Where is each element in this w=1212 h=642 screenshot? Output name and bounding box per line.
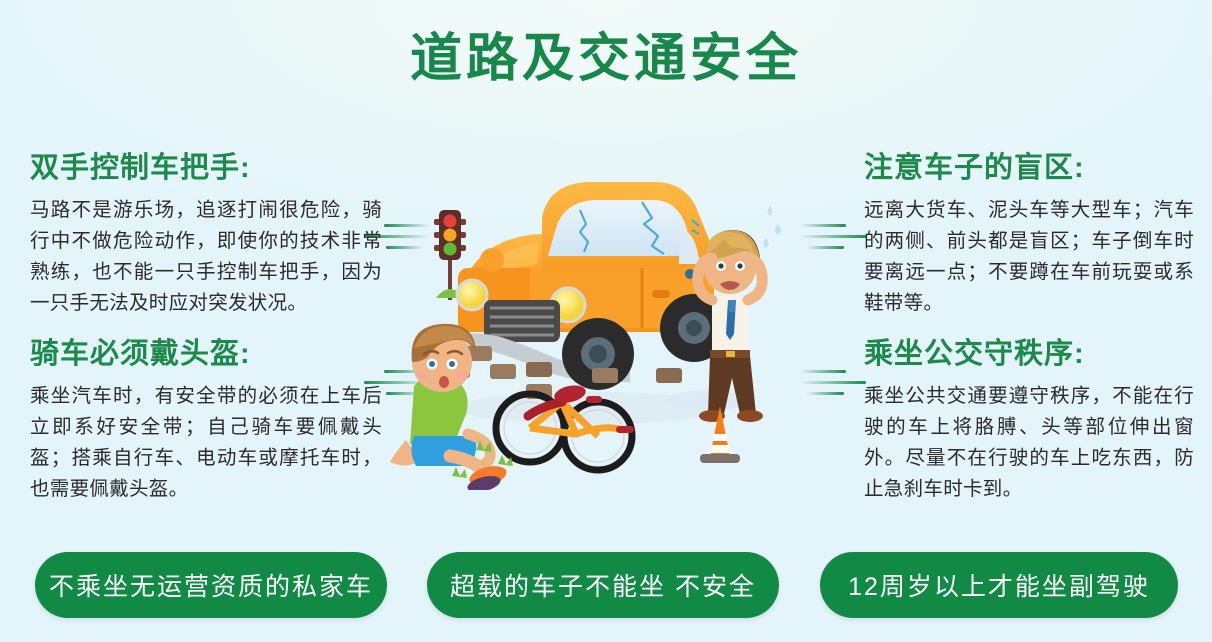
- tip-block-bus-order: 乘坐公交守秩序: 乘坐公共交通要遵守秩序，不能在行驶的车上将胳膊、头等部位伸出窗…: [864, 330, 1194, 505]
- speed-lines-right-top: [800, 222, 870, 256]
- tip-heading: 乘坐公交守秩序:: [864, 330, 1194, 372]
- tip-heading: 双手控制车把手:: [30, 144, 382, 186]
- poster-canvas: 道路及交通安全 双手控制车把手: 马路不是游乐场，追逐打闹很危险，骑行中不做危险…: [0, 0, 1212, 642]
- tip-body: 乘坐公共交通要遵守秩序，不能在行驶的车上将胳膊、头等部位伸出窗外。尽量不在行驶的…: [864, 381, 1194, 505]
- speed-lines-right-bottom: [800, 368, 870, 402]
- tip-block-helmet: 骑车必须戴头盔: 乘坐汽车时，有安全带的必须在上车后立即系好安全带；自己骑车要佩…: [30, 330, 382, 505]
- slogan-pill-private-car[interactable]: 不乘坐无运营资质的私家车: [35, 552, 387, 618]
- tip-heading: 注意车子的盲区:: [864, 144, 1194, 186]
- tip-heading: 骑车必须戴头盔:: [30, 330, 382, 372]
- tip-body: 乘坐汽车时，有安全带的必须在上车后立即系好安全带；自己骑车要佩戴头盔；搭乘自行车…: [30, 381, 382, 505]
- slogan-pill-overload[interactable]: 超载的车子不能坐 不安全: [427, 552, 779, 618]
- slogan-pill-front-seat-age[interactable]: 12周岁以上才能坐副驾驶: [820, 552, 1178, 618]
- accident-illustration: [380, 150, 790, 490]
- tip-block-handlebars: 双手控制车把手: 马路不是游乐场，追逐打闹很危险，骑行中不做危险动作，即使你的技…: [30, 144, 382, 319]
- tip-block-blindspot: 注意车子的盲区: 远离大货车、泥头车等大型车；汽车的两侧、前头都是盲区；车子倒车…: [864, 144, 1194, 319]
- orange-car-illustration: [452, 182, 728, 390]
- headlight-left: [457, 280, 487, 310]
- page-title: 道路及交通安全: [0, 16, 1212, 91]
- tip-body: 马路不是游乐场，追逐打闹很危险，骑行中不做危险动作，即使你的技术非常熟练，也不能…: [30, 195, 382, 319]
- tip-body: 远离大货车、泥头车等大型车；汽车的两侧、前头都是盲区；车子倒车时要离远一点；不要…: [864, 195, 1194, 319]
- sweat-drops: [764, 206, 782, 248]
